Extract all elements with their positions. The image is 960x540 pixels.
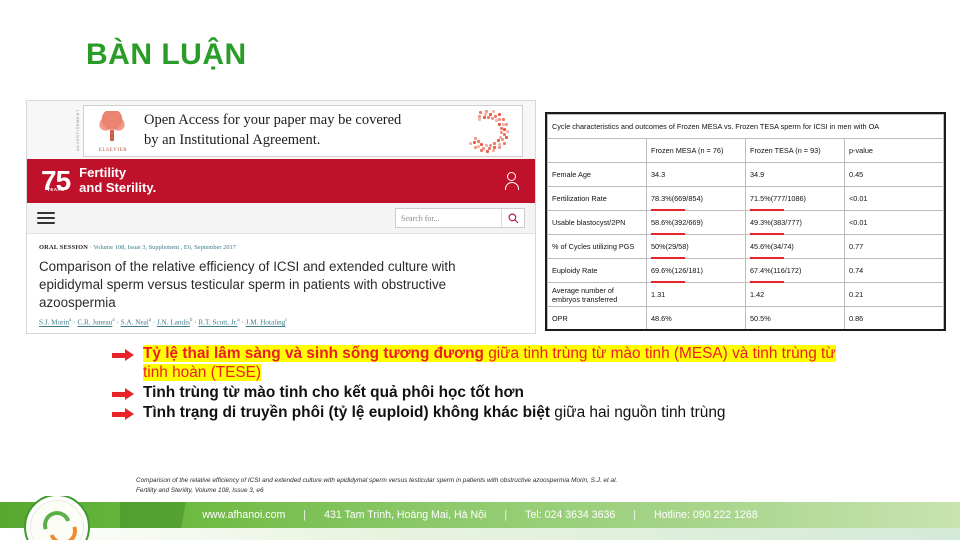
cell-mesa: 48.6%	[647, 307, 746, 331]
search-input[interactable]: Search for...	[395, 208, 525, 228]
user-icon-body	[505, 182, 519, 190]
author-link[interactable]: J.M. Hotaling	[246, 319, 286, 327]
table-row: Fertilization Rate78.3%(669/854)71.5%(77…	[548, 187, 944, 211]
brand-line-1: Fertility	[79, 166, 156, 181]
advertisement-label: ADVERTISEMENT	[73, 107, 83, 153]
decorative-dot	[474, 146, 477, 149]
citation-line-1: Comparison of the relative efficiency of…	[136, 476, 866, 486]
decorative-dot	[498, 123, 501, 126]
bullet-remainder: giữa hai nguồn tinh trùng	[550, 404, 725, 421]
table-column-header: p-value	[845, 139, 944, 163]
results-table: Cycle characteristics and outcomes of Fr…	[547, 114, 944, 331]
journal-brand-name: Fertility and Sterility.	[79, 166, 156, 195]
cell-tesa: 71.5%(777/1086)	[746, 187, 845, 211]
table-column-header: Frozen TESA (n = 93)	[746, 139, 845, 163]
elsevier-wordmark: ELSEVIER	[88, 148, 138, 153]
cell-tesa: 67.4%(116/172)	[746, 259, 845, 283]
decorative-dot	[479, 111, 482, 114]
table-row: Female Age34.334.90.45	[548, 163, 944, 187]
decorative-dot	[477, 140, 480, 143]
decorative-dot	[478, 118, 481, 121]
elsevier-trunk-icon	[110, 130, 114, 141]
page-title: BÀN LUẬN	[86, 38, 247, 72]
decorative-dot	[469, 142, 472, 145]
user-icon-head	[507, 172, 516, 181]
decorative-dot	[505, 136, 508, 139]
bullet-emphasis: Tỷ lệ thai lâm sàng và sinh sống tương đ…	[143, 345, 484, 362]
footer-tel: Tel: 024 3634 3636	[525, 509, 615, 521]
article-issue-line[interactable]: Volume 108, Issue 3, Supplement , E6, Se…	[93, 244, 236, 251]
brand-line-2: and Sterility.	[79, 181, 156, 196]
bullet-emphasis: Tinh trùng từ mào tinh cho kết quả phôi …	[143, 384, 524, 401]
decorative-dot	[477, 145, 480, 148]
footer-separator: |	[504, 509, 507, 521]
search-placeholder: Search for...	[396, 214, 501, 223]
footer-contact-row: www.afhanoi.com | 431 Tam Trinh, Hoàng M…	[0, 502, 960, 528]
advertisement-line-1: Open Access for your paper may be covere…	[144, 111, 462, 131]
cell-pvalue: 0.21	[845, 283, 944, 307]
author-link[interactable]: J.N. Landis	[157, 319, 190, 327]
cell-tesa: 50.5%	[746, 307, 845, 331]
table-column-header: Frozen MESA (n = 76)	[647, 139, 746, 163]
bullet-text: Tỷ lệ thai lâm sàng và sinh sống tương đ…	[143, 344, 852, 382]
elsevier-logo: ELSEVIER	[88, 108, 138, 154]
decorative-dot	[478, 115, 481, 118]
decorative-dot	[498, 118, 501, 121]
decorative-dot	[506, 130, 509, 133]
conclusion-bullet-list: Tỷ lệ thai lâm sàng và sinh sống tương đ…	[112, 344, 852, 423]
advertisement-dot-graphic	[462, 109, 514, 153]
decorative-dot	[497, 139, 500, 142]
row-label: OPR	[548, 307, 647, 331]
decorative-dot	[482, 147, 485, 150]
red-underline-marker	[750, 329, 784, 331]
cell-pvalue: <0.01	[845, 211, 944, 235]
advertisement-line-2: by an Institutional Agreement.	[144, 131, 462, 151]
footer-light-band	[0, 528, 960, 540]
journal-header: 75 YEARS Fertility and Sterility.	[27, 159, 535, 203]
cell-mesa: 58.6%(392/669)	[647, 211, 746, 235]
table-row: Euploidy Rate69.6%(126/181)67.4%(116/172…	[548, 259, 944, 283]
results-table-screenshot: Cycle characteristics and outcomes of Fr…	[545, 112, 946, 331]
arrow-right-icon	[112, 387, 138, 402]
decorative-dot	[501, 138, 504, 141]
footer-hotline: Hotline: 090 222 1268	[654, 509, 758, 521]
list-item: Tỷ lệ thai lâm sàng và sinh sống tương đ…	[112, 344, 852, 382]
table-caption: Cycle characteristics and outcomes of Fr…	[548, 115, 944, 139]
decorative-dot	[505, 123, 508, 126]
decorative-dot	[494, 115, 497, 118]
user-icon[interactable]	[505, 172, 517, 188]
article-block: ORAL SESSION · Volume 108, Issue 3, Supp…	[27, 234, 535, 334]
journal-nav-bar: Search for...	[27, 203, 535, 234]
advertisement-banner[interactable]: ELSEVIER Open Access for your paper may …	[83, 105, 523, 157]
cell-mesa: 69.6%(126/181)	[647, 259, 746, 283]
arrow-right-icon	[112, 407, 138, 422]
decorative-dot	[473, 141, 476, 144]
advertisement-text: Open Access for your paper may be covere…	[138, 111, 462, 150]
decorative-dot	[502, 118, 505, 121]
cell-mesa: 50%(29/58)	[647, 235, 746, 259]
search-icon[interactable]	[501, 209, 524, 227]
bullet-text-content: Tỷ lệ thai lâm sàng và sinh sống tương đ…	[143, 345, 836, 381]
red-underline-marker	[651, 329, 685, 331]
row-label: Fertilization Rate	[548, 187, 647, 211]
cell-tesa: 1.42	[746, 283, 845, 307]
row-label: Average number of embryos transferred	[548, 283, 647, 307]
decorative-dot	[492, 110, 495, 113]
table-row: % of Cycles utilizing PGS50%(29/58)45.6%…	[548, 235, 944, 259]
citation: Comparison of the relative efficiency of…	[136, 476, 866, 495]
decorative-dot	[487, 116, 490, 119]
cell-pvalue: 0.86	[845, 307, 944, 331]
bullet-text: Tình trạng di truyền phôi (tỷ lệ euploid…	[143, 403, 725, 422]
anniversary-logo: 75 YEARS	[41, 167, 70, 195]
article-title: Comparison of the relative efficiency of…	[39, 258, 523, 311]
hamburger-icon[interactable]	[37, 209, 55, 228]
bullet-text-content: Tinh trùng từ mào tinh cho kết quả phôi …	[143, 384, 524, 401]
footer-separator: |	[303, 509, 306, 521]
cell-tesa: 34.9	[746, 163, 845, 187]
cell-mesa: 78.3%(669/854)	[647, 187, 746, 211]
row-label: % of Cycles utilizing PGS	[548, 235, 647, 259]
decorative-dot	[498, 143, 501, 146]
table-header-row: Frozen MESA (n = 76)Frozen TESA (n = 93)…	[548, 139, 944, 163]
journal-screenshot: ADVERTISEMENT ELSEVIER Open Access for y…	[26, 100, 536, 334]
decorative-dot	[486, 150, 489, 153]
table-column-header	[548, 139, 647, 163]
decorative-dot	[485, 144, 488, 147]
afhanoi-logo: AF HANOI	[24, 496, 90, 540]
decorative-dot	[492, 149, 495, 152]
row-label: Euploidy Rate	[548, 259, 647, 283]
anniversary-years-label: YEARS	[47, 188, 65, 193]
bullet-text-content: Tình trạng di truyền phôi (tỷ lệ euploid…	[143, 404, 725, 421]
decorative-dot	[498, 146, 501, 149]
bullet-emphasis: Tình trạng di truyền phôi (tỷ lệ euploid…	[143, 404, 550, 421]
decorative-dot	[493, 142, 496, 145]
author-affiliation-marker: c	[285, 318, 287, 323]
cell-pvalue: <0.01	[845, 187, 944, 211]
decorative-dot	[484, 113, 487, 116]
cell-pvalue: 0.77	[845, 235, 944, 259]
cell-tesa: 45.6%(34/74)	[746, 235, 845, 259]
row-label: Female Age	[548, 163, 647, 187]
cell-pvalue: 0.74	[845, 259, 944, 283]
author-link[interactable]: C.R. Juneau	[77, 319, 112, 327]
author-link[interactable]: S.J. Morin	[39, 319, 69, 327]
decorative-dot	[502, 123, 505, 126]
footer-separator: |	[633, 509, 636, 521]
author-link[interactable]: S.A. Neal	[121, 319, 149, 327]
table-row: Average number of embryos transferred1.3…	[548, 283, 944, 307]
decorative-dot	[498, 113, 501, 116]
advertisement-strip: ADVERTISEMENT ELSEVIER Open Access for y…	[27, 101, 535, 159]
table-row: Usable blastocyst/2PN58.6%(392/669)49.3%…	[548, 211, 944, 235]
article-authors[interactable]: S.J. Morina · C.R. Juneaua · S.A. Neala …	[39, 318, 523, 326]
logo-ring: AF HANOI	[30, 500, 84, 540]
table-row: OPR48.6%50.5%0.86	[548, 307, 944, 331]
footer-website[interactable]: www.afhanoi.com	[202, 509, 285, 521]
cell-mesa: 34.3	[647, 163, 746, 187]
author-link[interactable]: R.T. Scott, Jr.	[198, 319, 237, 327]
decorative-dot	[485, 110, 488, 113]
decorative-dot	[489, 113, 492, 116]
citation-line-2: Fertility and Sterility, Volume 108, Iss…	[136, 486, 866, 496]
decorative-dot	[474, 137, 477, 140]
decorative-dot	[480, 149, 483, 152]
decorative-dot	[503, 142, 506, 145]
footer-address: 431 Tam Trinh, Hoàng Mai, Hà Nội	[324, 509, 486, 521]
decorative-dot	[493, 146, 496, 149]
cell-tesa: 49.3%(383/777)	[746, 211, 845, 235]
cell-pvalue: 0.45	[845, 163, 944, 187]
decorative-dot	[480, 143, 483, 146]
footer: www.afhanoi.com | 431 Tam Trinh, Hoàng M…	[0, 496, 960, 540]
list-item: Tình trạng di truyền phôi (tỷ lệ euploid…	[112, 403, 852, 422]
article-kicker: ORAL SESSION · Volume 108, Issue 3, Supp…	[39, 244, 523, 251]
list-item: Tinh trùng từ mào tinh cho kết quả phôi …	[112, 383, 852, 402]
table-caption-row: Cycle characteristics and outcomes of Fr…	[548, 115, 944, 139]
bullet-text: Tinh trùng từ mào tinh cho kết quả phôi …	[143, 383, 524, 402]
row-label: Usable blastocyst/2PN	[548, 211, 647, 235]
arrow-right-icon	[112, 348, 138, 363]
article-section: ORAL SESSION	[39, 244, 88, 251]
decorative-dot	[483, 116, 486, 119]
cell-mesa: 1.31	[647, 283, 746, 307]
